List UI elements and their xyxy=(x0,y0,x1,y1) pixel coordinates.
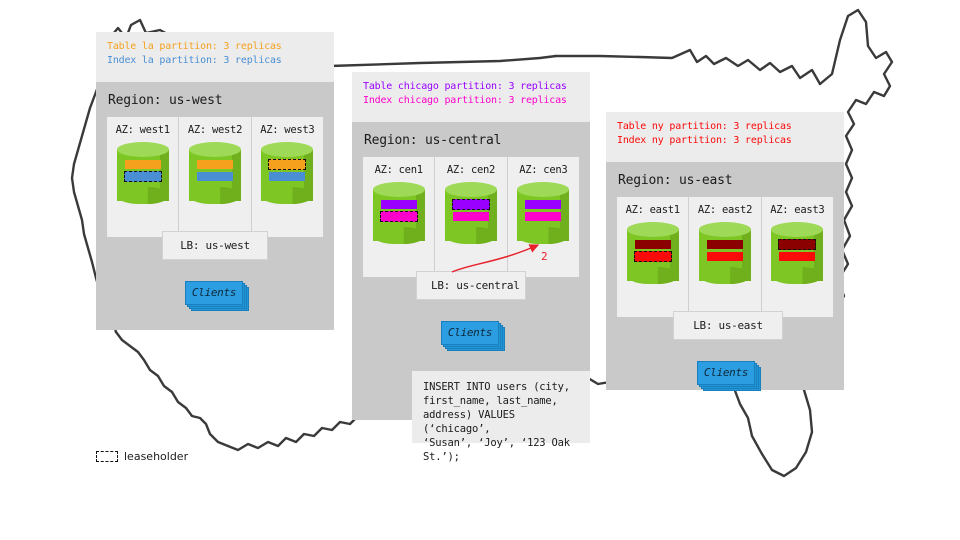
az-strip-us-east: AZ: east1 AZ: east2 xyxy=(617,197,833,317)
db-cylinder-east2[interactable] xyxy=(699,222,751,288)
clients-button-label[interactable]: Clients xyxy=(441,321,499,345)
cylinder-top xyxy=(517,182,569,197)
table-replica-band xyxy=(197,160,233,169)
db-cylinder-cen2[interactable] xyxy=(445,182,497,248)
replica-bands-east2 xyxy=(707,240,743,264)
replica-bands-west1 xyxy=(125,160,161,184)
region-title-us-central: Region: us-central xyxy=(352,122,590,157)
cylinder-top xyxy=(699,222,751,237)
partition-table-line: Table ny partition: 3 replicas xyxy=(617,120,834,134)
db-cylinder-east3[interactable] xyxy=(771,222,823,288)
index-replica-band xyxy=(707,252,743,261)
clients-button-us-central[interactable]: Clients xyxy=(441,321,503,347)
az-cell-west3[interactable]: AZ: west3 xyxy=(252,117,323,237)
index-replica-band xyxy=(525,212,561,221)
diagram-canvas: Table la partition: 3 replicas Index la … xyxy=(0,0,960,540)
cylinder-top xyxy=(373,182,425,197)
partition-index-line: Index la partition: 3 replicas xyxy=(107,54,324,68)
db-cylinder-west2[interactable] xyxy=(189,142,241,208)
region-panel-us-central: Table chicago partition: 3 replicas Inde… xyxy=(352,72,590,420)
arrow-step-number: 2 xyxy=(541,250,548,263)
partition-table-line: Table chicago partition: 3 replicas xyxy=(363,80,580,94)
partition-header-us-east: Table ny partition: 3 replicas Index ny … xyxy=(606,112,844,162)
cylinder-top xyxy=(117,142,169,157)
clients-button-us-west[interactable]: Clients xyxy=(185,281,247,307)
db-cylinder-east1[interactable] xyxy=(627,222,679,288)
cylinder-top xyxy=(261,142,313,157)
az-label-east2: AZ: east2 xyxy=(689,204,760,216)
db-cylinder-cen1[interactable] xyxy=(373,182,425,248)
clients-button-label[interactable]: Clients xyxy=(185,281,243,305)
az-cell-cen1[interactable]: AZ: cen1 xyxy=(363,157,435,277)
az-cell-west2[interactable]: AZ: west2 xyxy=(179,117,251,237)
db-cylinder-cen3[interactable] xyxy=(517,182,569,248)
region-panel-us-east: Table ny partition: 3 replicas Index ny … xyxy=(606,112,844,390)
az-label-cen2: AZ: cen2 xyxy=(435,164,506,176)
legend-label: leaseholder xyxy=(124,450,188,463)
leaseholder-swatch-icon xyxy=(96,451,118,462)
table-replica-band-leaseholder xyxy=(268,159,306,170)
cylinder-top xyxy=(627,222,679,237)
az-cell-east1[interactable]: AZ: east1 xyxy=(617,197,689,317)
az-label-west3: AZ: west3 xyxy=(252,124,323,136)
replica-bands-cen3 xyxy=(525,200,561,224)
index-replica-band-leaseholder xyxy=(634,251,672,262)
db-cylinder-west1[interactable] xyxy=(117,142,169,208)
replica-bands-east1 xyxy=(635,240,671,264)
az-label-west2: AZ: west2 xyxy=(179,124,250,136)
replica-bands-cen1 xyxy=(381,200,417,224)
index-replica-band-leaseholder xyxy=(380,211,418,222)
index-replica-band xyxy=(269,172,305,181)
az-cell-cen2[interactable]: AZ: cen2 xyxy=(435,157,507,277)
table-replica-band xyxy=(707,240,743,249)
db-cylinder-west3[interactable] xyxy=(261,142,313,208)
load-balancer-us-east[interactable]: LB: us-east xyxy=(673,311,783,340)
legend-leaseholder: leaseholder xyxy=(96,450,188,463)
az-cell-west1[interactable]: AZ: west1 xyxy=(107,117,179,237)
cylinder-top xyxy=(445,182,497,197)
sql-statement-box: INSERT INTO users (city, first_name, las… xyxy=(412,371,590,443)
load-balancer-us-central[interactable]: LB: us-central xyxy=(416,271,526,300)
partition-index-line: Index ny partition: 3 replicas xyxy=(617,134,834,148)
az-cell-east3[interactable]: AZ: east3 xyxy=(762,197,833,317)
region-body-us-east: Region: us-east AZ: east1 xyxy=(606,162,844,390)
partition-header-us-central: Table chicago partition: 3 replicas Inde… xyxy=(352,72,590,122)
clients-button-label[interactable]: Clients xyxy=(697,361,755,385)
table-replica-band xyxy=(635,240,671,249)
az-strip-us-west: AZ: west1 AZ: west2 xyxy=(107,117,323,237)
az-cell-east2[interactable]: AZ: east2 xyxy=(689,197,761,317)
index-replica-band xyxy=(779,252,815,261)
partition-index-line: Index chicago partition: 3 replicas xyxy=(363,94,580,108)
replica-bands-west2 xyxy=(197,160,233,184)
partition-table-line: Table la partition: 3 replicas xyxy=(107,40,324,54)
index-replica-band xyxy=(197,172,233,181)
region-title-us-east: Region: us-east xyxy=(606,162,844,197)
az-label-cen3: AZ: cen3 xyxy=(508,164,579,176)
cylinder-top xyxy=(771,222,823,237)
table-replica-band xyxy=(525,200,561,209)
az-label-east1: AZ: east1 xyxy=(617,204,688,216)
az-label-west1: AZ: west1 xyxy=(107,124,178,136)
table-replica-band xyxy=(125,160,161,169)
replica-bands-west3 xyxy=(269,160,305,184)
replica-bands-cen2 xyxy=(453,200,489,224)
region-title-us-west: Region: us-west xyxy=(96,82,334,117)
az-label-cen1: AZ: cen1 xyxy=(363,164,434,176)
table-replica-band xyxy=(381,200,417,209)
table-replica-band-leaseholder xyxy=(452,199,490,210)
replica-bands-east3 xyxy=(779,240,815,264)
index-replica-band-leaseholder xyxy=(124,171,162,182)
index-replica-band xyxy=(453,212,489,221)
load-balancer-us-west[interactable]: LB: us-west xyxy=(162,231,268,260)
table-replica-band-leaseholder xyxy=(778,239,816,250)
clients-button-us-east[interactable]: Clients xyxy=(697,361,759,387)
az-label-east3: AZ: east3 xyxy=(762,204,833,216)
partition-header-us-west: Table la partition: 3 replicas Index la … xyxy=(96,32,334,82)
cylinder-top xyxy=(189,142,241,157)
